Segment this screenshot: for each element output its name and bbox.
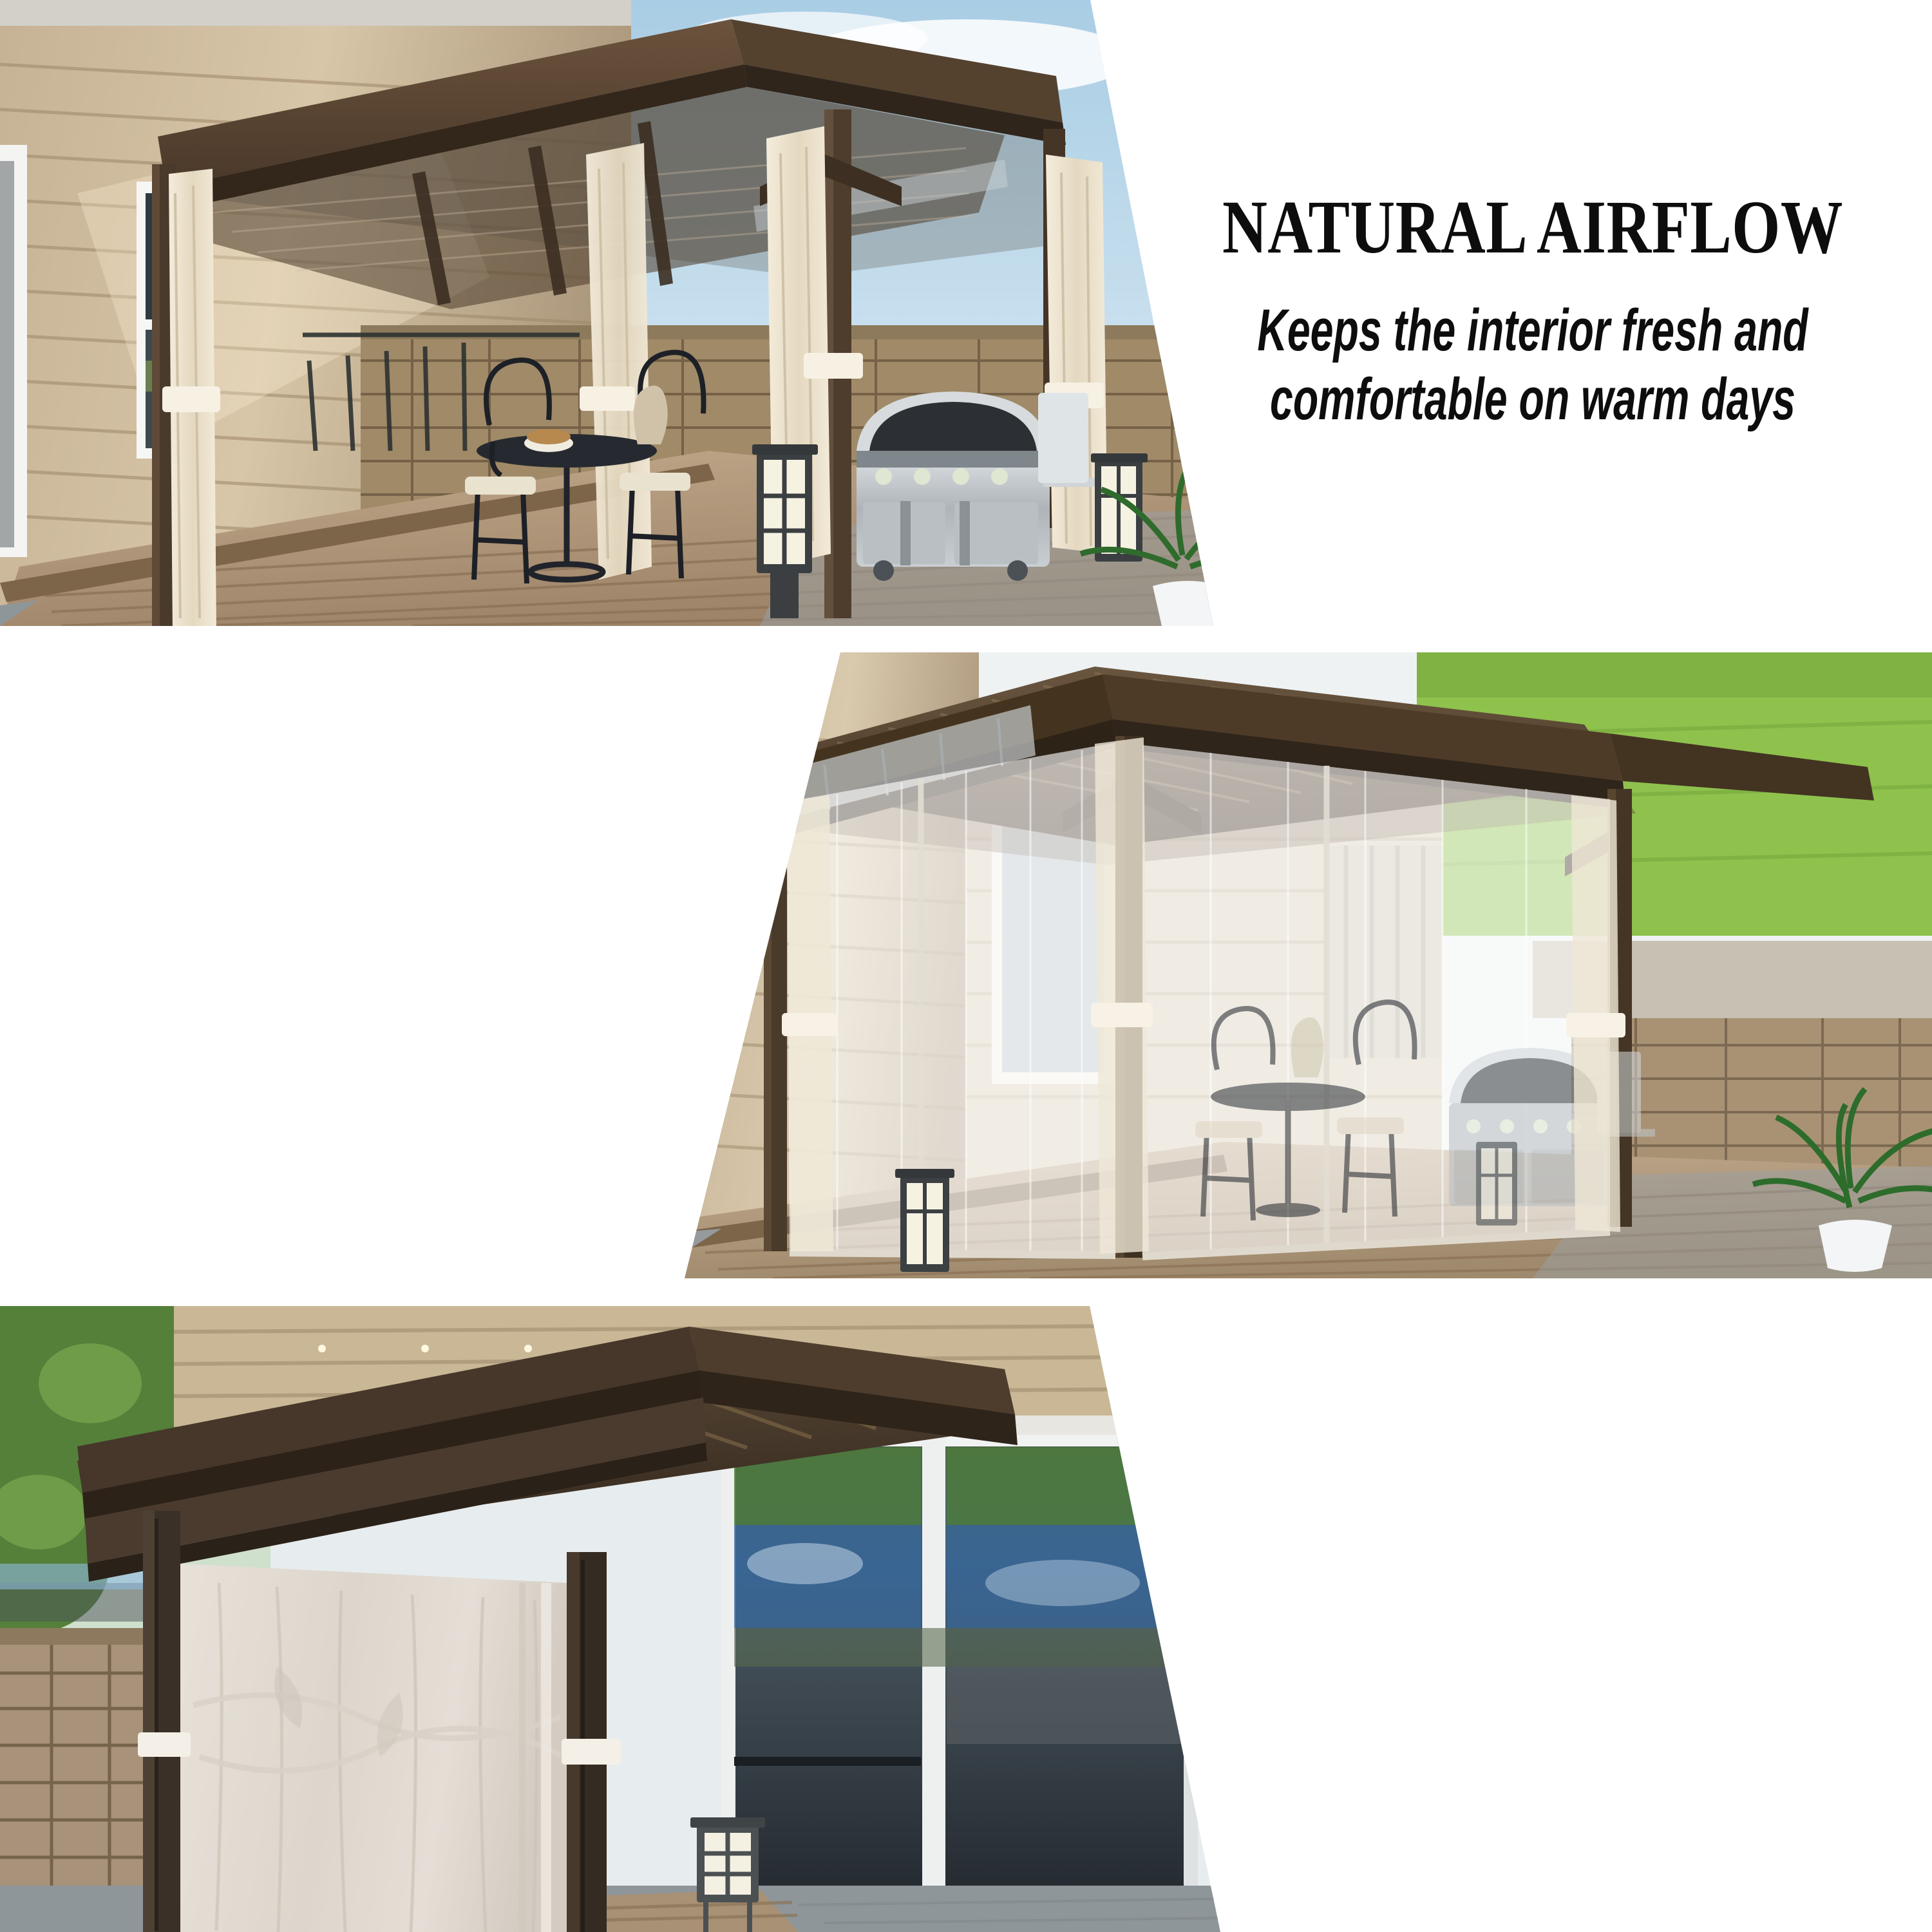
feature-panel-insect-protection: INSECT PROTECTION Keep mosquitoes, flies… [0, 652, 1932, 1278]
feature-panel-privacy-curtains: PRIVACY CURTAINS Offers privacy and shie… [0, 1306, 1932, 1932]
feature-subtitle-natural-airflow: Keeps the interior fresh and comfortable… [1253, 296, 1812, 433]
feature-panel-natural-airflow: NATURAL AIRFLOW Keeps the interior fresh… [0, 0, 1932, 626]
photo-natural-airflow [0, 0, 1224, 626]
feature-heading-natural-airflow: NATURAL AIRFLOW [1206, 191, 1861, 264]
feature-text-natural-airflow: NATURAL AIRFLOW Keeps the interior fresh… [1133, 191, 1932, 434]
gazebo-privacy-curtain-scene [0, 1306, 1236, 1932]
gazebo-open-scene [0, 0, 1224, 626]
subtitle-line: Keeps the interior fresh and [1253, 296, 1812, 365]
subtitle-line: comfortable on warm days [1253, 365, 1812, 434]
gazebo-screened-scene [644, 652, 1932, 1278]
photo-privacy-curtains [0, 1306, 1236, 1932]
photo-insect-protection [644, 652, 1932, 1278]
